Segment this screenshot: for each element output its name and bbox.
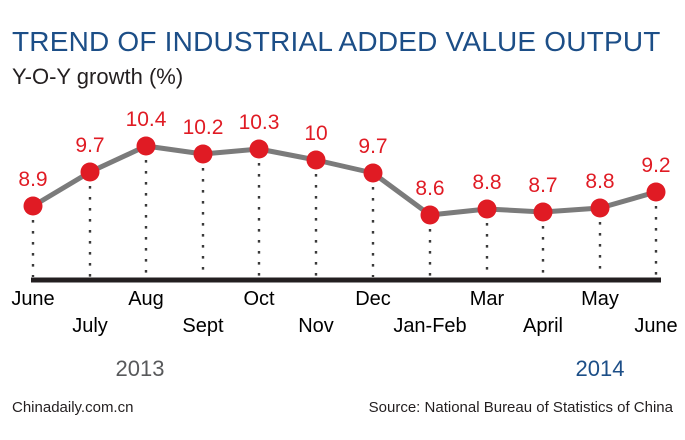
data-point-marker[interactable]	[81, 163, 100, 182]
x-axis-tick-label: June	[11, 289, 54, 309]
x-axis-tick-label: July	[72, 316, 108, 336]
data-point-marker[interactable]	[421, 206, 440, 225]
data-point-value-label: 10.2	[183, 117, 224, 138]
data-point-marker[interactable]	[478, 200, 497, 219]
x-axis-tick-label: Oct	[243, 289, 274, 309]
data-point-value-label: 8.6	[415, 178, 444, 199]
data-point-value-label: 10	[304, 123, 327, 144]
x-axis-tick-label: May	[581, 289, 619, 309]
footer-brand: Chinadaily.com.cn	[12, 400, 133, 415]
x-axis-tick-label: Jan-Feb	[393, 316, 466, 336]
data-point-marker[interactable]	[534, 203, 553, 222]
data-point-marker[interactable]	[137, 137, 156, 156]
data-point-value-label: 8.7	[528, 175, 557, 196]
data-point-marker[interactable]	[364, 164, 383, 183]
infographic-chart: TREND OF INDUSTRIAL ADDED VALUE OUTPUT Y…	[0, 0, 685, 440]
x-axis-tick-label: Dec	[355, 289, 391, 309]
x-axis-tick-label: Nov	[298, 316, 334, 336]
series-line	[33, 146, 656, 215]
data-point-value-label: 9.7	[358, 136, 387, 157]
data-point-value-label: 8.8	[585, 171, 614, 192]
x-axis-tick-label: April	[523, 316, 563, 336]
data-point-value-label: 10.3	[239, 112, 280, 133]
data-point-marker[interactable]	[24, 197, 43, 216]
year-label-2014: 2014	[576, 358, 625, 380]
data-point-value-label: 9.7	[75, 135, 104, 156]
x-axis-tick-label: Aug	[128, 289, 164, 309]
data-point-marker[interactable]	[194, 145, 213, 164]
data-point-value-label: 9.2	[641, 155, 670, 176]
data-point-value-label: 10.4	[126, 109, 167, 130]
x-axis-tick-label: Sept	[182, 316, 223, 336]
page-title: TREND OF INDUSTRIAL ADDED VALUE OUTPUT	[12, 28, 661, 56]
data-point-marker[interactable]	[307, 151, 326, 170]
footer-source: Source: National Bureau of Statistics of…	[369, 400, 673, 415]
x-axis-tick-label: Mar	[470, 289, 504, 309]
chart-subtitle: Y-O-Y growth (%)	[12, 66, 183, 88]
dropline-group	[33, 160, 656, 277]
data-point-marker[interactable]	[647, 183, 666, 202]
data-point-marker[interactable]	[250, 140, 269, 159]
year-label-2013: 2013	[116, 358, 165, 380]
marker-group	[24, 137, 666, 225]
data-point-value-label: 8.8	[472, 172, 501, 193]
x-axis-tick-label: June	[634, 316, 677, 336]
data-point-value-label: 8.9	[18, 169, 47, 190]
data-point-marker[interactable]	[591, 199, 610, 218]
